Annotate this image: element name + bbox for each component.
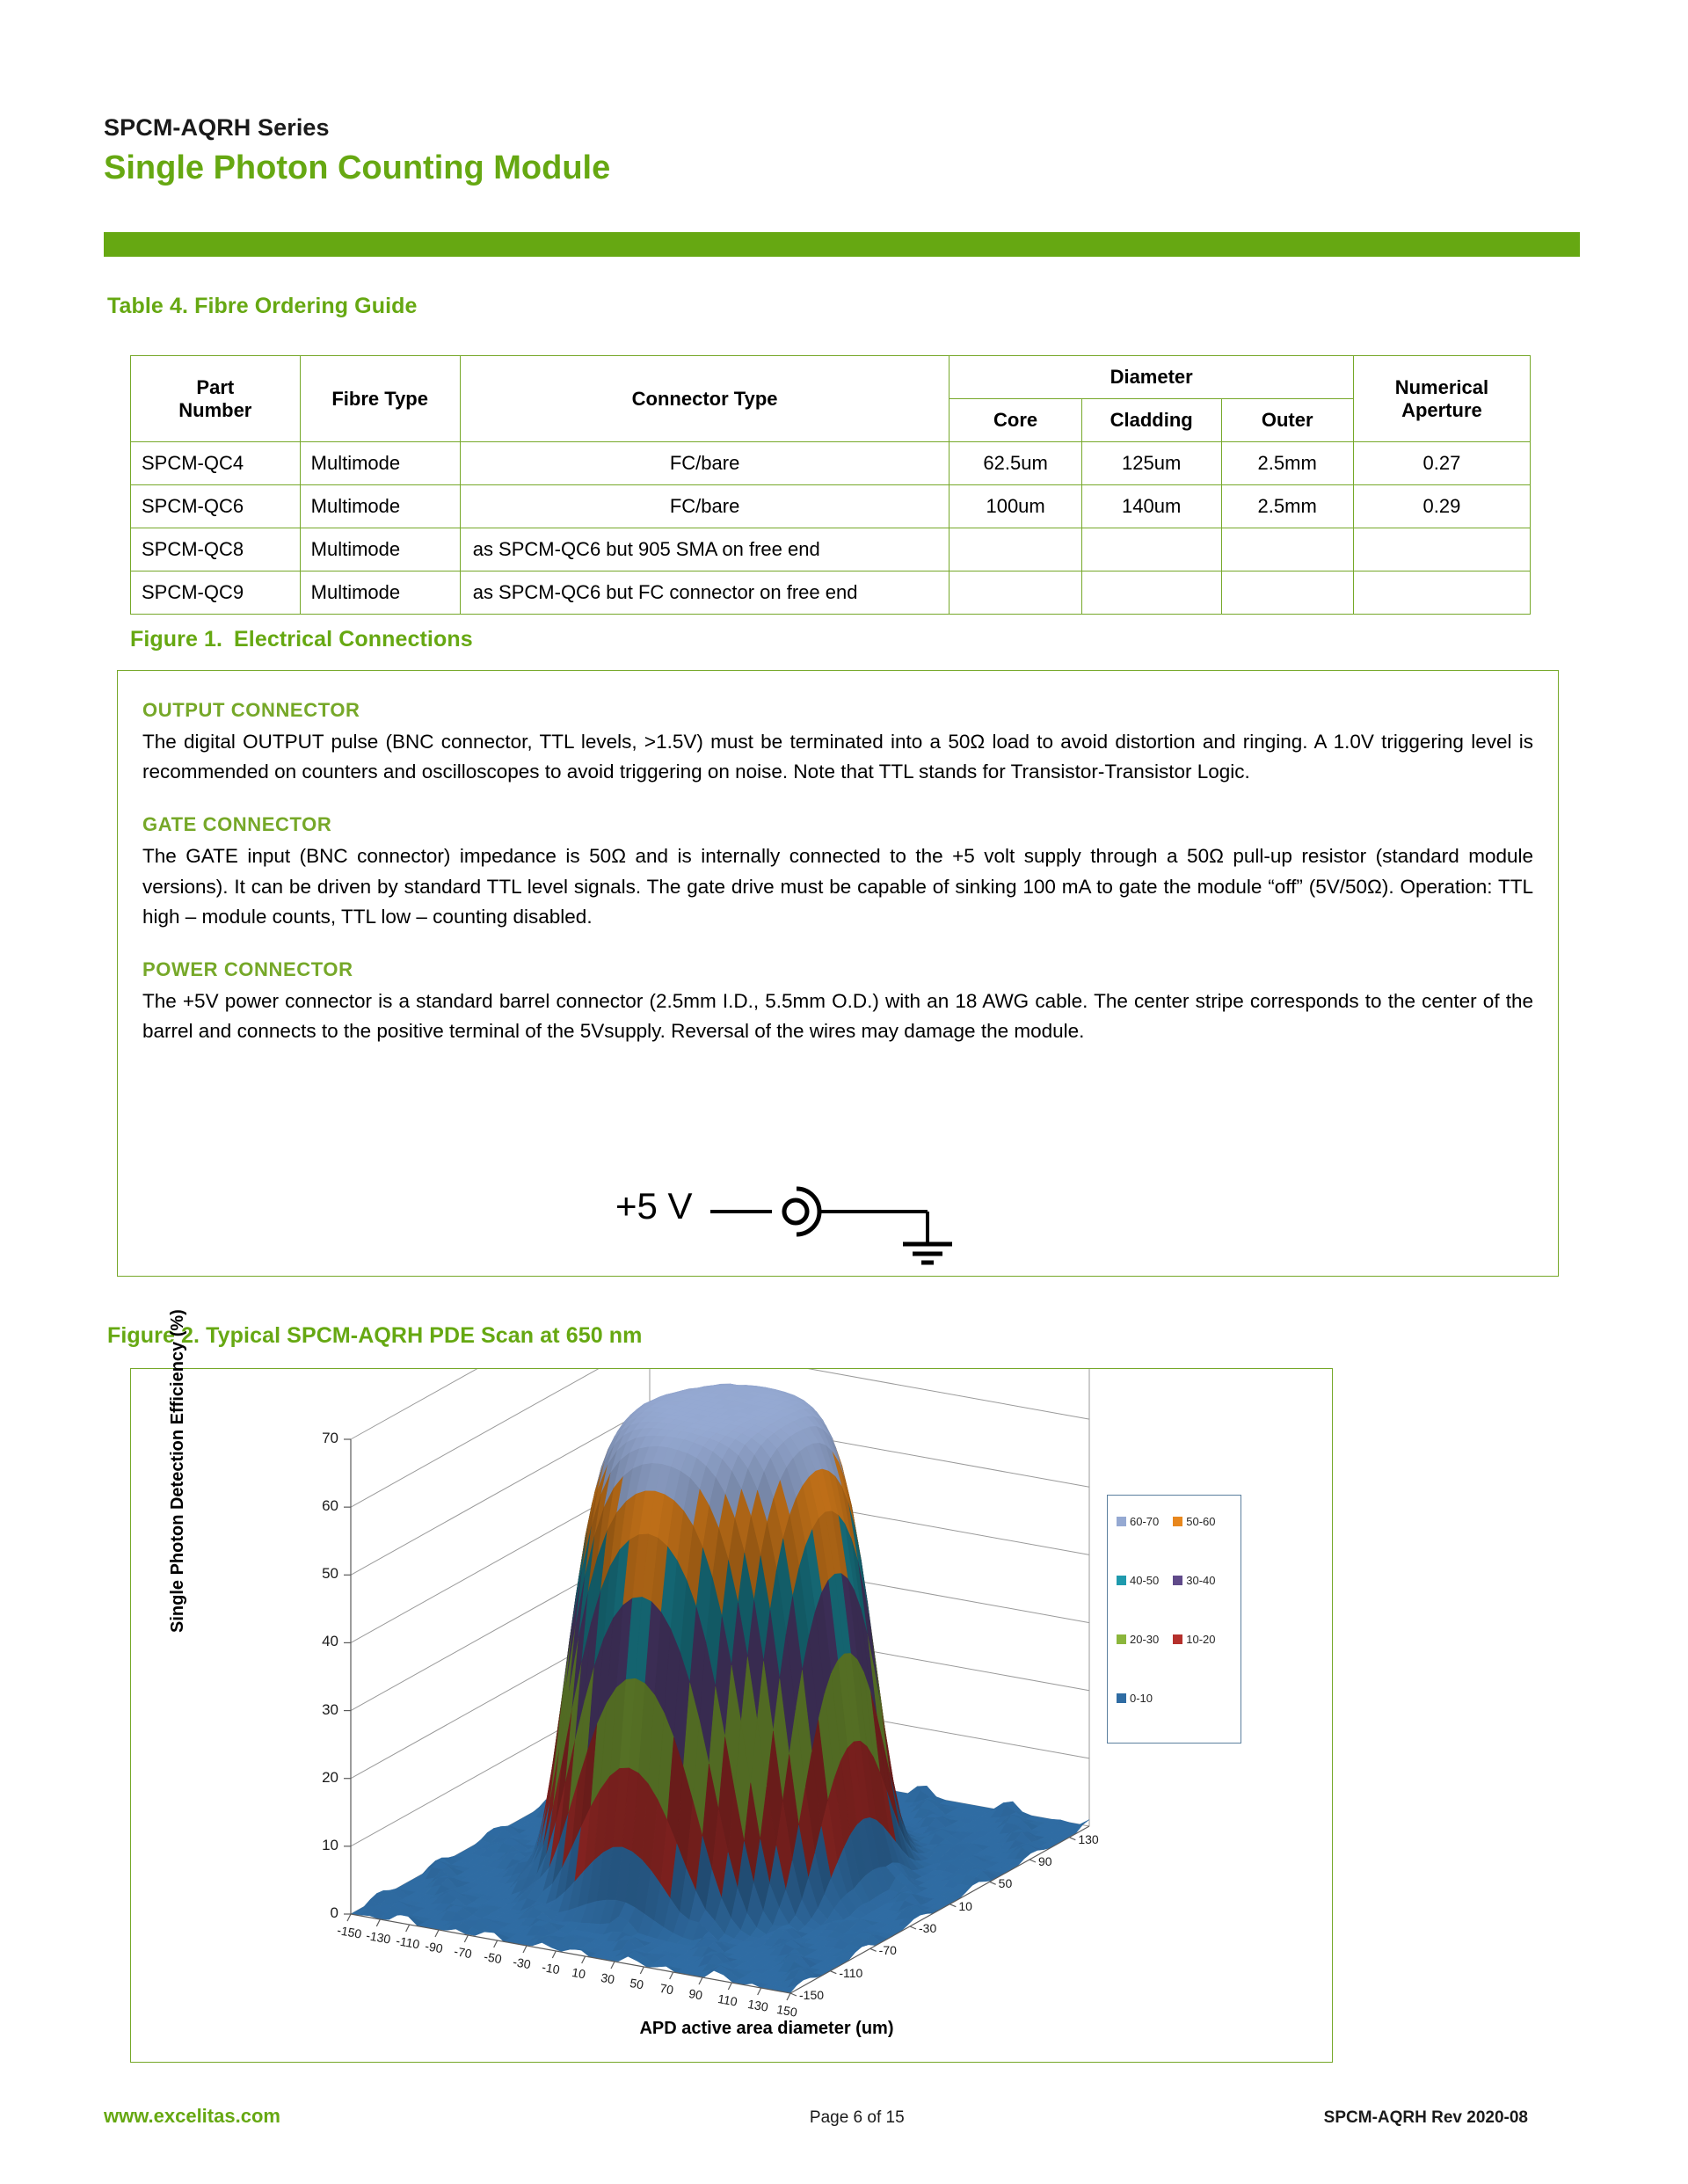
legend-label: 0-10 (1130, 1692, 1153, 1705)
cell-cladding-diameter (1081, 571, 1221, 615)
header-part-number: Part Number (131, 356, 301, 442)
y-tick-label: 10 (298, 1837, 338, 1854)
legend-label: 40-50 (1130, 1574, 1159, 1587)
legend-swatch-icon (1117, 1634, 1126, 1644)
cell-connector-type: as SPCM-QC6 but 905 SMA on free end (460, 528, 949, 571)
legend-swatch-icon (1117, 1576, 1126, 1585)
z-tick-label: -110 (839, 1966, 862, 1980)
cell-cladding-diameter: 140um (1081, 485, 1221, 528)
legend-swatch-icon (1117, 1517, 1126, 1526)
figure1-sections: OUTPUT CONNECTORThe digital OUTPUT pulse… (118, 671, 1558, 1060)
power-connector-circuit-diagram: +5 V (615, 1169, 993, 1270)
pde-scan-chart: Single Photon Detection Efficiency (%) A… (130, 1368, 1333, 2063)
legend-row: 0-10 (1117, 1692, 1232, 1705)
header-part-number-line1: Part (131, 376, 300, 399)
header-green-rule (104, 232, 1580, 257)
header-connector-type: Connector Type (460, 356, 949, 442)
header-numerical-aperture: Numerical Aperture (1353, 356, 1530, 442)
product-series-label: SPCM-AQRH Series (104, 114, 1581, 142)
cell-part-number: SPCM-QC6 (131, 485, 301, 528)
x-tick-label: 70 (658, 1981, 674, 1997)
y-tick-label: 30 (298, 1701, 338, 1719)
cell-core-diameter: 100um (949, 485, 1081, 528)
footer-page-number: Page 6 of 15 (636, 2108, 1079, 2128)
legend-item-20-30[interactable]: 20-30 (1117, 1633, 1159, 1646)
header-numerical-aperture-line2: Aperture (1354, 399, 1530, 422)
z-tick-label: 10 (958, 1899, 972, 1913)
legend-label: 50-60 (1186, 1515, 1215, 1528)
cell-part-number: SPCM-QC9 (131, 571, 301, 615)
header-diameter: Diameter (949, 356, 1353, 399)
table-header-row-1: Part Number Fibre Type Connector Type Di… (131, 356, 1531, 399)
page-footer: www.excelitas.com Page 6 of 15 SPCM-AQRH… (104, 2105, 1581, 2128)
x-tick-label: 50 (629, 1976, 645, 1991)
surface-mesh (351, 1384, 1089, 1992)
cell-fibre-type: Multimode (300, 485, 460, 528)
legend-swatch-icon (1117, 1693, 1126, 1703)
cell-fibre-type: Multimode (300, 442, 460, 485)
legend-label: 30-40 (1186, 1574, 1215, 1587)
x-tick-label: -50 (483, 1949, 503, 1966)
cell-numerical-aperture (1353, 528, 1530, 571)
cell-numerical-aperture: 0.27 (1353, 442, 1530, 485)
legend-item-0-10[interactable]: 0-10 (1117, 1692, 1153, 1705)
cell-fibre-type: Multimode (300, 528, 460, 571)
legend-swatch-icon (1173, 1634, 1182, 1644)
page-header: SPCM-AQRH Series Single Photon Counting … (104, 114, 1581, 188)
header-fibre-type: Fibre Type (300, 356, 460, 442)
cell-core-diameter (949, 571, 1081, 615)
legend-item-40-50[interactable]: 40-50 (1117, 1574, 1159, 1587)
connector-section-title-1: GATE CONNECTOR (142, 813, 1533, 836)
x-tick-label: 30 (600, 1970, 615, 1986)
table-row: SPCM-QC8Multimodeas SPCM-QC6 but 905 SMA… (131, 528, 1531, 571)
x-tick-label: 10 (571, 1965, 586, 1981)
legend-label: 20-30 (1130, 1633, 1159, 1646)
figure1-heading: Figure 1.Electrical Connections (130, 627, 473, 652)
header-core: Core (949, 399, 1081, 442)
cell-connector-type: as SPCM-QC6 but FC connector on free end (460, 571, 949, 615)
legend-item-30-40[interactable]: 30-40 (1173, 1574, 1215, 1587)
cell-cladding-diameter (1081, 528, 1221, 571)
legend-swatch-icon (1173, 1576, 1182, 1585)
header-numerical-aperture-line1: Numerical (1354, 376, 1530, 399)
header-cladding: Cladding (1081, 399, 1221, 442)
cell-connector-type: FC/bare (460, 442, 949, 485)
header-part-number-line2: Number (131, 399, 300, 422)
connector-section-title-2: POWER CONNECTOR (142, 958, 1533, 981)
footer-revision: SPCM-AQRH Rev 2020-08 (1079, 2108, 1581, 2128)
z-tick-label: -70 (879, 1943, 897, 1957)
chart-plot-area: Single Photon Detection Efficiency (%) A… (131, 1369, 1332, 2062)
cell-numerical-aperture (1353, 571, 1530, 615)
legend-item-50-60[interactable]: 50-60 (1173, 1515, 1215, 1528)
cell-core-diameter (949, 528, 1081, 571)
fibre-ordering-table: Part Number Fibre Type Connector Type Di… (130, 355, 1531, 615)
cell-numerical-aperture: 0.29 (1353, 485, 1530, 528)
chart-legend: 60-7050-6040-5030-4020-3010-200-10 (1107, 1495, 1241, 1744)
legend-label: 10-20 (1186, 1633, 1215, 1646)
x-tick-label: -10 (542, 1960, 562, 1977)
z-tick-label: -150 (799, 1988, 824, 2002)
legend-swatch-icon (1173, 1517, 1182, 1526)
figure1-label: Figure 1. (130, 627, 234, 652)
figure1-title: Electrical Connections (234, 627, 473, 652)
connector-section-body-1: The GATE input (BNC connector) impedance… (142, 841, 1533, 932)
connector-section-body-0: The digital OUTPUT pulse (BNC connector,… (142, 727, 1533, 787)
table-row: SPCM-QC9Multimodeas SPCM-QC6 but FC conn… (131, 571, 1531, 615)
circuit-voltage-label: +5 V (615, 1185, 693, 1227)
legend-row: 60-7050-60 (1117, 1515, 1232, 1528)
y-tick-label: 0 (298, 1904, 338, 1922)
page-title: Single Photon Counting Module (104, 148, 1581, 188)
x-tick-label: -70 (454, 1944, 474, 1961)
cell-outer-diameter (1221, 571, 1353, 615)
x-tick-label: 90 (688, 1986, 703, 2002)
table4-heading: Table 4. Fibre Ordering Guide (107, 294, 418, 319)
cell-cladding-diameter: 125um (1081, 442, 1221, 485)
y-tick-label: 60 (298, 1497, 338, 1515)
z-tick-label: 50 (999, 1876, 1013, 1890)
cell-outer-diameter (1221, 528, 1353, 571)
connector-section-body-2: The +5V power connector is a standard ba… (142, 986, 1533, 1046)
table-row: SPCM-QC6MultimodeFC/bare100um140um2.5mm0… (131, 485, 1531, 528)
y-tick-label: 50 (298, 1565, 338, 1583)
z-tick-label: 90 (1038, 1854, 1052, 1868)
y-tick-label: 40 (298, 1633, 338, 1650)
legend-item-60-70[interactable]: 60-70 (1117, 1515, 1159, 1528)
z-tick-label: -30 (919, 1921, 936, 1935)
document-page: SPCM-AQRH Series Single Photon Counting … (0, 0, 1688, 2184)
footer-website-link[interactable]: www.excelitas.com (104, 2105, 636, 2128)
legend-item-10-20[interactable]: 10-20 (1173, 1633, 1215, 1646)
cell-part-number: SPCM-QC4 (131, 442, 301, 485)
cell-connector-type: FC/bare (460, 485, 949, 528)
cell-outer-diameter: 2.5mm (1221, 485, 1353, 528)
header-outer: Outer (1221, 399, 1353, 442)
y-tick-label: 70 (298, 1430, 338, 1447)
z-tick-label: 130 (1078, 1832, 1098, 1846)
connector-section-title-0: OUTPUT CONNECTOR (142, 699, 1533, 722)
legend-row: 40-5030-40 (1117, 1574, 1232, 1587)
legend-label: 60-70 (1130, 1515, 1159, 1528)
cell-core-diameter: 62.5um (949, 442, 1081, 485)
x-tick-label: -30 (512, 1955, 532, 1971)
cell-outer-diameter: 2.5mm (1221, 442, 1353, 485)
fibre-ordering-table-wrapper: Part Number Fibre Type Connector Type Di… (130, 355, 1531, 615)
legend-row: 20-3010-20 (1117, 1633, 1232, 1646)
table-row: SPCM-QC4MultimodeFC/bare62.5um125um2.5mm… (131, 442, 1531, 485)
cell-fibre-type: Multimode (300, 571, 460, 615)
cell-part-number: SPCM-QC8 (131, 528, 301, 571)
y-tick-label: 20 (298, 1769, 338, 1787)
barrel-connector-inner-circle (784, 1200, 807, 1223)
x-tick-label: -90 (424, 1939, 444, 1955)
